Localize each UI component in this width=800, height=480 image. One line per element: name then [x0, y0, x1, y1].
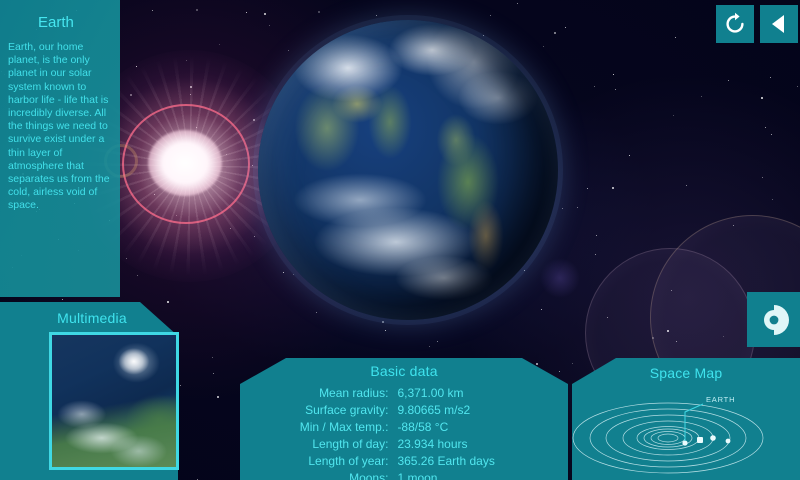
- star: [264, 13, 266, 15]
- star: [676, 341, 677, 342]
- star: [587, 188, 588, 189]
- space-map-diagram: EARTH: [572, 382, 800, 480]
- data-label: Mean radius:: [240, 385, 397, 402]
- star: [733, 225, 734, 226]
- data-label: Length of year:: [240, 453, 397, 470]
- space-map-title: Space Map: [572, 365, 800, 381]
- table-row: Moons:1 moon: [240, 470, 568, 480]
- star: [176, 215, 177, 216]
- star: [385, 330, 386, 331]
- star: [615, 89, 616, 90]
- star: [490, 15, 491, 16]
- star: [226, 154, 227, 155]
- table-row: Length of year:365.26 Earth days: [240, 453, 568, 470]
- sun-ring: [122, 104, 250, 224]
- planet-viewer-app: Earth Earth, our home planet, is the onl…: [0, 0, 800, 480]
- star: [213, 373, 214, 374]
- star: [288, 50, 289, 51]
- star: [180, 385, 181, 386]
- star: [613, 74, 614, 75]
- star: [536, 363, 538, 365]
- star: [130, 94, 132, 96]
- planet-description: Earth, our home planet, is the only plan…: [6, 41, 112, 213]
- sun-core: [148, 130, 222, 196]
- data-value: 23.934 hours: [397, 436, 568, 453]
- star: [316, 312, 317, 313]
- data-label: Surface gravity:: [240, 402, 397, 419]
- star: [167, 301, 169, 303]
- data-label: Min / Max temp.:: [240, 419, 397, 436]
- space-map-panel[interactable]: Space Map EARTH: [572, 358, 800, 480]
- star: [246, 12, 247, 13]
- refresh-icon: [723, 12, 747, 36]
- star: [612, 187, 614, 189]
- star: [219, 44, 220, 45]
- table-row: Mean radius:6,371.00 km: [240, 385, 568, 402]
- star: [671, 290, 672, 291]
- star: [652, 337, 654, 339]
- star: [376, 15, 377, 16]
- table-row: Min / Max temp.:-88/58 °C: [240, 419, 568, 436]
- star: [559, 371, 560, 372]
- phase-button[interactable]: [747, 292, 800, 347]
- star: [728, 80, 729, 81]
- star: [596, 235, 597, 236]
- star: [701, 96, 702, 97]
- space-map-planet-label: EARTH: [706, 395, 735, 404]
- star: [572, 363, 573, 364]
- star: [190, 94, 191, 95]
- star: [595, 254, 596, 255]
- star: [152, 10, 153, 11]
- star: [673, 115, 674, 116]
- star: [269, 25, 270, 26]
- star: [771, 134, 772, 135]
- star: [212, 357, 213, 358]
- page-title: Earth: [6, 14, 112, 31]
- star: [190, 86, 192, 88]
- data-value: 9.80665 m/s2: [397, 402, 568, 419]
- day-night-phase-icon: [757, 303, 791, 337]
- star: [675, 37, 676, 38]
- back-triangle-icon: [768, 13, 790, 35]
- data-value: 6,371.00 km: [397, 385, 568, 402]
- sun-graphic: [120, 100, 260, 232]
- star: [230, 228, 231, 229]
- table-row: Length of day:23.934 hours: [240, 436, 568, 453]
- info-panel: Earth Earth, our home planet, is the onl…: [0, 0, 120, 297]
- table-row: Surface gravity:9.80665 m/s2: [240, 402, 568, 419]
- back-button[interactable]: [760, 5, 798, 43]
- star: [437, 341, 438, 342]
- star: [541, 309, 542, 310]
- star: [283, 272, 284, 273]
- star: [762, 177, 763, 178]
- star: [562, 208, 563, 209]
- star: [429, 346, 430, 347]
- star: [797, 86, 798, 87]
- star: [253, 119, 255, 121]
- star: [196, 127, 197, 128]
- basic-data-title: Basic data: [240, 363, 568, 379]
- star: [765, 127, 766, 128]
- refresh-button[interactable]: [716, 5, 754, 43]
- star: [594, 86, 595, 87]
- basic-data-panel: Basic data Mean radius:6,371.00 kmSurfac…: [240, 358, 568, 480]
- star: [629, 155, 630, 156]
- star: [554, 32, 556, 34]
- star: [186, 60, 187, 61]
- earth-globe[interactable]: [258, 20, 558, 320]
- data-label: Moons:: [240, 470, 397, 480]
- star: [126, 258, 127, 259]
- star: [577, 207, 578, 208]
- star: [217, 396, 219, 398]
- star: [723, 336, 724, 337]
- star: [667, 330, 669, 332]
- star: [196, 9, 198, 11]
- data-value: -88/58 °C: [397, 419, 568, 436]
- star: [254, 236, 255, 237]
- multimedia-title: Multimedia: [0, 310, 178, 326]
- star: [761, 97, 763, 99]
- star: [318, 11, 320, 13]
- star: [62, 299, 63, 300]
- multimedia-thumbnail[interactable]: [49, 332, 179, 470]
- star: [136, 66, 137, 67]
- data-value: 365.26 Earth days: [397, 453, 568, 470]
- star: [137, 275, 138, 276]
- star: [154, 194, 155, 195]
- star: [686, 185, 687, 186]
- data-value: 1 moon: [397, 470, 568, 480]
- star: [517, 3, 518, 4]
- data-label: Length of day:: [240, 436, 397, 453]
- star: [770, 77, 771, 78]
- basic-data-table: Mean radius:6,371.00 kmSurface gravity:9…: [240, 385, 568, 480]
- star: [607, 317, 608, 318]
- star: [772, 199, 773, 200]
- lens-flare-circle-3: [540, 258, 580, 298]
- star: [565, 27, 566, 28]
- star: [543, 46, 544, 47]
